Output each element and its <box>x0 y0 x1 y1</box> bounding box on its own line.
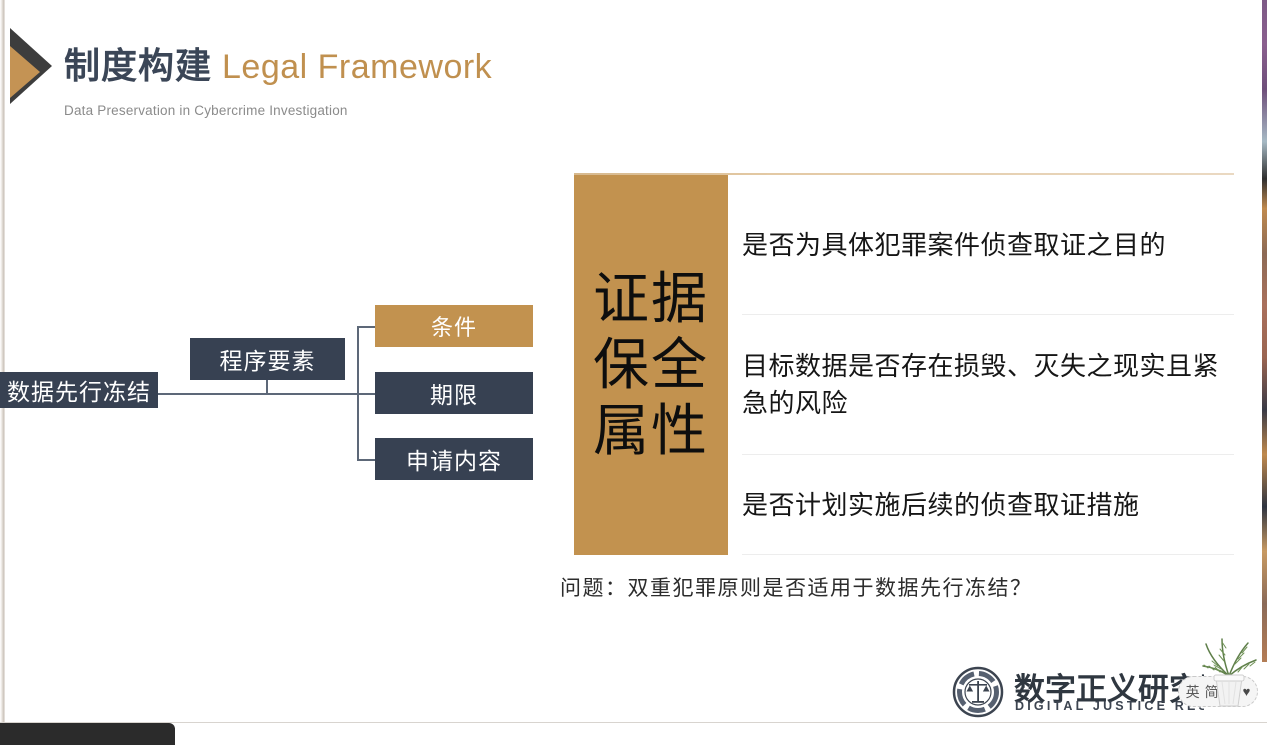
mindmap-node-branch-duration[interactable]: 期限 <box>375 372 533 414</box>
mindmap-node-branch-application[interactable]: 申请内容 <box>375 438 533 480</box>
criteria-row-text: 目标数据是否存在损毁、灭失之现实且紧急的风险 <box>742 348 1230 422</box>
connector-bracket <box>357 326 359 460</box>
scales-of-justice-seal-icon <box>952 666 1004 718</box>
connector-branch-3 <box>357 459 376 461</box>
panel-band-label: 证据 保全 属性 <box>574 175 728 555</box>
potted-plant-image <box>1198 636 1260 708</box>
slide-canvas: 制度构建Legal Framework Data Preservation in… <box>0 0 1267 745</box>
criteria-panel: 证据 保全 属性 是否为具体犯罪案件侦查取证之目的 目标数据是否存在损毁、灭失之… <box>574 173 1234 558</box>
slide-header: 制度构建Legal Framework Data Preservation in… <box>0 18 1267 118</box>
criteria-row: 是否计划实施后续的侦查取证措施 <box>742 455 1234 555</box>
page-subtitle: Data Preservation in Cybercrime Investig… <box>64 103 348 118</box>
criteria-row: 是否为具体犯罪案件侦查取证之目的 <box>742 175 1234 315</box>
mindmap-diagram: 数据先行冻结 程序要素 条件 期限 申请内容 <box>0 290 560 510</box>
mindmap-node-branch-condition[interactable]: 条件 <box>375 305 533 347</box>
band-char-1: 保全 <box>593 332 709 398</box>
page-title: 制度构建Legal Framework <box>64 48 492 84</box>
connector-branch-1 <box>357 326 376 328</box>
play-triangle-logo-icon <box>6 28 58 108</box>
page-title-en: Legal Framework <box>222 48 492 86</box>
criteria-row-text: 是否计划实施后续的侦查取证措施 <box>742 487 1140 524</box>
question-line: 问题：双重犯罪原则是否适用于数据先行冻结？ <box>560 572 1033 602</box>
criteria-row-text: 是否为具体犯罪案件侦查取证之目的 <box>742 227 1166 264</box>
criteria-row-list: 是否为具体犯罪案件侦查取证之目的 目标数据是否存在损毁、灭失之现实且紧急的风险 … <box>742 175 1234 555</box>
mindmap-node-root[interactable]: 数据先行冻结 <box>0 372 158 408</box>
connector-stub-middle <box>266 380 268 394</box>
band-char-0: 证据 <box>593 266 709 332</box>
taskbar-sliver[interactable] <box>0 723 175 745</box>
bottom-strip <box>175 723 1267 745</box>
band-char-2: 属性 <box>593 398 709 464</box>
triangle-gold-icon <box>10 46 40 98</box>
criteria-row: 目标数据是否存在损毁、灭失之现实且紧急的风险 <box>742 315 1234 455</box>
row-divider <box>742 554 1234 555</box>
page-title-cn: 制度构建 <box>64 45 212 86</box>
mindmap-node-middle[interactable]: 程序要素 <box>190 338 345 380</box>
window-top-edge <box>0 0 1267 3</box>
